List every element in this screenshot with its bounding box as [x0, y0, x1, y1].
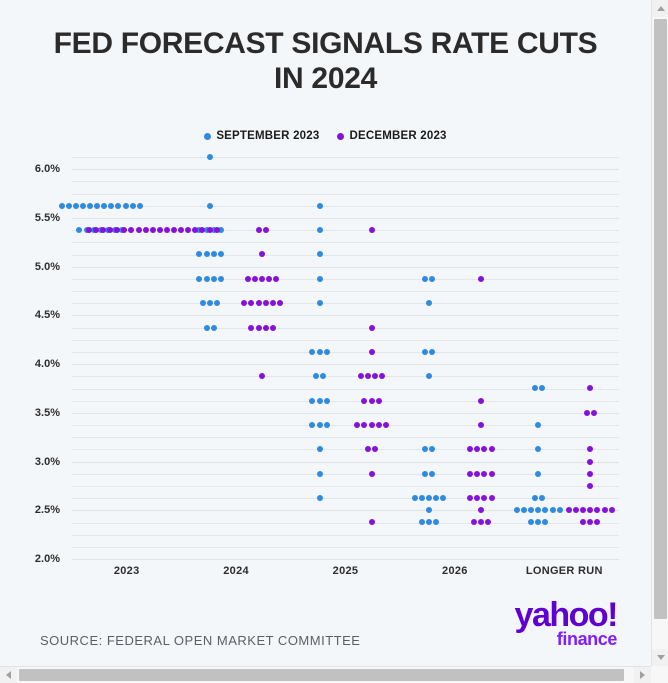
data-dot — [259, 251, 265, 257]
data-dot — [263, 325, 269, 331]
data-dot — [207, 300, 213, 306]
x-axis-tick-label: 2023 — [114, 565, 140, 577]
data-dot — [426, 519, 432, 525]
gridline — [72, 267, 619, 268]
data-dot — [266, 276, 272, 282]
legend-swatch-september — [204, 133, 211, 140]
data-dot — [317, 422, 323, 428]
data-dot — [429, 446, 435, 452]
chart-legend: SEPTEMBER 2023 DECEMBER 2023 — [0, 130, 651, 142]
x-axis-tick-label: 2026 — [442, 565, 468, 577]
legend-swatch-december — [337, 133, 344, 140]
x-axis-tick-label: 2025 — [333, 565, 359, 577]
data-dot — [136, 227, 142, 233]
data-dot — [317, 471, 323, 477]
data-dot — [241, 300, 247, 306]
browser-viewport: FED FORECAST SIGNALS RATE CUTS IN 2024 S… — [0, 0, 668, 683]
data-dot — [426, 507, 432, 513]
vertical-scrollbar-thumb[interactable] — [654, 19, 667, 619]
data-dot — [412, 495, 418, 501]
data-dot — [252, 276, 258, 282]
data-dot — [474, 495, 480, 501]
data-dot — [433, 495, 439, 501]
horizontal-scrollbar[interactable] — [0, 666, 651, 683]
data-dot — [478, 422, 484, 428]
data-dot — [426, 373, 432, 379]
data-dot — [474, 471, 480, 477]
gridline — [72, 181, 619, 182]
data-dot — [429, 349, 435, 355]
gridline — [72, 401, 619, 402]
data-dot — [59, 203, 65, 209]
data-dot — [539, 495, 545, 501]
data-dot — [204, 276, 210, 282]
infographic-card: FED FORECAST SIGNALS RATE CUTS IN 2024 S… — [0, 0, 651, 666]
gridline — [72, 547, 619, 548]
data-dot — [383, 422, 389, 428]
data-dot — [467, 446, 473, 452]
gridline — [72, 437, 619, 438]
data-dot — [422, 349, 428, 355]
data-dot — [317, 349, 323, 355]
gridline — [72, 315, 619, 316]
gridline — [72, 486, 619, 487]
data-dot — [365, 373, 371, 379]
logo-wordmark: yahoo! — [515, 598, 617, 632]
data-dot — [185, 227, 191, 233]
data-dot — [481, 495, 487, 501]
data-dot — [422, 276, 428, 282]
data-dot — [422, 446, 428, 452]
data-dot — [489, 446, 495, 452]
data-dot — [256, 325, 262, 331]
y-axis-tick-label: 4.0% — [0, 358, 60, 370]
data-dot — [277, 300, 283, 306]
data-dot — [178, 227, 184, 233]
data-dot — [550, 507, 556, 513]
yahoo-finance-logo: yahoo! finance — [515, 598, 617, 648]
data-dot — [587, 507, 593, 513]
data-dot — [80, 203, 86, 209]
data-dot — [426, 300, 432, 306]
gridline — [72, 364, 619, 365]
data-dot — [433, 519, 439, 525]
data-dot — [218, 276, 224, 282]
data-dot — [429, 276, 435, 282]
scrollbar-corner — [651, 666, 668, 683]
data-dot — [309, 422, 315, 428]
data-dot — [214, 300, 220, 306]
data-dot — [372, 373, 378, 379]
scroll-up-arrow-icon[interactable] — [652, 0, 668, 17]
y-axis-tick-label: 2.5% — [0, 504, 60, 516]
data-dot — [86, 227, 92, 233]
data-dot — [196, 251, 202, 257]
data-dot — [478, 398, 484, 404]
data-dot — [137, 203, 143, 209]
data-dot — [245, 276, 251, 282]
data-dot — [587, 519, 593, 525]
data-dot — [214, 227, 220, 233]
data-dot — [481, 471, 487, 477]
data-dot — [539, 385, 545, 391]
data-dot — [587, 385, 593, 391]
data-dot — [429, 471, 435, 477]
data-dot — [263, 300, 269, 306]
data-dot — [426, 495, 432, 501]
data-dot — [489, 471, 495, 477]
gridline — [72, 157, 619, 158]
gridline — [72, 169, 619, 170]
gridline — [72, 218, 619, 219]
data-dot — [419, 519, 425, 525]
x-axis-tick-label: 2024 — [223, 565, 249, 577]
data-dot — [94, 203, 100, 209]
data-dot — [115, 203, 121, 209]
data-dot — [557, 507, 563, 513]
data-dot — [542, 507, 548, 513]
gridline — [72, 559, 619, 560]
data-dot — [123, 203, 129, 209]
data-dot — [535, 519, 541, 525]
data-dot — [535, 446, 541, 452]
scroll-right-arrow-icon[interactable] — [634, 667, 651, 683]
gridline — [72, 255, 619, 256]
data-dot — [532, 495, 538, 501]
data-dot — [587, 446, 593, 452]
data-dot — [324, 422, 330, 428]
data-dot — [594, 507, 600, 513]
data-dot — [317, 398, 323, 404]
data-dot — [379, 373, 385, 379]
data-dot — [317, 300, 323, 306]
data-dot — [171, 227, 177, 233]
page-title: FED FORECAST SIGNALS RATE CUTS IN 2024 — [40, 26, 611, 97]
data-dot — [259, 276, 265, 282]
scroll-down-arrow-icon[interactable] — [652, 649, 668, 666]
data-dot — [609, 507, 615, 513]
gridline — [72, 352, 619, 353]
data-dot — [467, 495, 473, 501]
gridline — [72, 279, 619, 280]
gridline — [72, 242, 619, 243]
data-dot — [528, 519, 534, 525]
data-dot — [514, 507, 520, 513]
data-dot — [108, 203, 114, 209]
data-dot — [204, 251, 210, 257]
dot-plot-area: 6.0%5.5%5.0%4.5%4.0%3.5%3.0%2.5%2.0%2023… — [72, 157, 619, 559]
y-axis-tick-label: 3.5% — [0, 407, 60, 419]
data-dot — [263, 227, 269, 233]
data-dot — [358, 373, 364, 379]
data-dot — [207, 154, 213, 160]
data-dot — [580, 519, 586, 525]
scroll-left-arrow-icon[interactable] — [0, 667, 17, 683]
data-dot — [76, 227, 82, 233]
data-dot — [573, 507, 579, 513]
data-dot — [196, 276, 202, 282]
data-dot — [313, 373, 319, 379]
data-dot — [204, 325, 210, 331]
data-dot — [467, 471, 473, 477]
data-dot — [157, 227, 163, 233]
data-dot — [528, 507, 534, 513]
data-dot — [478, 276, 484, 282]
data-dot — [591, 410, 597, 416]
data-dot — [309, 398, 315, 404]
data-dot — [143, 227, 149, 233]
source-note: SOURCE: FEDERAL OPEN MARKET COMMITTEE — [40, 633, 360, 648]
data-dot — [587, 459, 593, 465]
gridline — [72, 303, 619, 304]
data-dot — [164, 227, 170, 233]
data-dot — [369, 519, 375, 525]
legend-item-december[interactable]: DECEMBER 2023 — [337, 130, 446, 142]
data-dot — [128, 227, 134, 233]
data-dot — [320, 373, 326, 379]
gridline — [72, 376, 619, 377]
data-dot — [93, 227, 99, 233]
data-dot — [594, 519, 600, 525]
data-dot — [273, 276, 279, 282]
data-dot — [317, 251, 323, 257]
data-dot — [211, 251, 217, 257]
data-dot — [211, 325, 217, 331]
gridline — [72, 194, 619, 195]
data-dot — [270, 325, 276, 331]
data-dot — [532, 385, 538, 391]
data-dot — [130, 203, 136, 209]
vertical-scrollbar[interactable] — [651, 0, 668, 666]
data-dot — [317, 227, 323, 233]
data-dot — [324, 349, 330, 355]
data-dot — [66, 203, 72, 209]
legend-item-september[interactable]: SEPTEMBER 2023 — [204, 130, 319, 142]
gridline — [72, 328, 619, 329]
data-dot — [317, 203, 323, 209]
y-axis-tick-label: 4.5% — [0, 309, 60, 321]
data-dot — [361, 398, 367, 404]
data-dot — [248, 325, 254, 331]
data-dot — [566, 507, 572, 513]
x-axis-tick-label: LONGER RUN — [526, 565, 603, 577]
data-dot — [602, 507, 608, 513]
data-dot — [361, 422, 367, 428]
legend-label-september: SEPTEMBER 2023 — [216, 130, 319, 142]
data-dot — [317, 495, 323, 501]
data-dot — [270, 300, 276, 306]
data-dot — [372, 446, 378, 452]
y-axis-tick-label: 2.0% — [0, 553, 60, 565]
data-dot — [317, 276, 323, 282]
data-dot — [521, 507, 527, 513]
data-dot — [478, 519, 484, 525]
data-dot — [580, 507, 586, 513]
data-dot — [369, 422, 375, 428]
data-dot — [369, 471, 375, 477]
data-dot — [309, 349, 315, 355]
data-dot — [584, 410, 590, 416]
gridline — [72, 291, 619, 292]
y-axis-tick-label: 5.5% — [0, 212, 60, 224]
data-dot — [542, 519, 548, 525]
gridline — [72, 462, 619, 463]
data-dot — [587, 483, 593, 489]
data-dot — [535, 422, 541, 428]
data-dot — [419, 495, 425, 501]
data-dot — [121, 227, 127, 233]
horizontal-scrollbar-thumb[interactable] — [19, 669, 624, 681]
data-dot — [535, 471, 541, 477]
legend-label-december: DECEMBER 2023 — [349, 130, 446, 142]
data-dot — [365, 446, 371, 452]
data-dot — [207, 203, 213, 209]
data-dot — [422, 471, 428, 477]
data-dot — [440, 495, 446, 501]
data-dot — [535, 507, 541, 513]
data-dot — [369, 325, 375, 331]
gridline — [72, 535, 619, 536]
data-dot — [150, 227, 156, 233]
y-axis-tick-label: 5.0% — [0, 261, 60, 273]
data-dot — [200, 300, 206, 306]
gridline — [72, 206, 619, 207]
data-dot — [73, 203, 79, 209]
data-dot — [256, 300, 262, 306]
data-dot — [474, 446, 480, 452]
y-axis-tick-label: 6.0% — [0, 163, 60, 175]
data-dot — [211, 276, 217, 282]
data-dot — [256, 227, 262, 233]
data-dot — [317, 446, 323, 452]
data-dot — [354, 422, 360, 428]
data-dot — [324, 398, 330, 404]
y-axis-tick-label: 3.0% — [0, 456, 60, 468]
data-dot — [471, 519, 477, 525]
data-dot — [101, 203, 107, 209]
data-dot — [248, 300, 254, 306]
data-dot — [369, 349, 375, 355]
data-dot — [218, 251, 224, 257]
data-dot — [485, 519, 491, 525]
data-dot — [481, 446, 487, 452]
data-dot — [587, 471, 593, 477]
gridline — [72, 413, 619, 414]
data-dot — [259, 373, 265, 379]
data-dot — [376, 398, 382, 404]
data-dot — [478, 507, 484, 513]
gridline — [72, 340, 619, 341]
data-dot — [207, 227, 213, 233]
data-dot — [489, 495, 495, 501]
data-dot — [369, 227, 375, 233]
data-dot — [376, 422, 382, 428]
data-dot — [87, 203, 93, 209]
data-dot — [369, 398, 375, 404]
